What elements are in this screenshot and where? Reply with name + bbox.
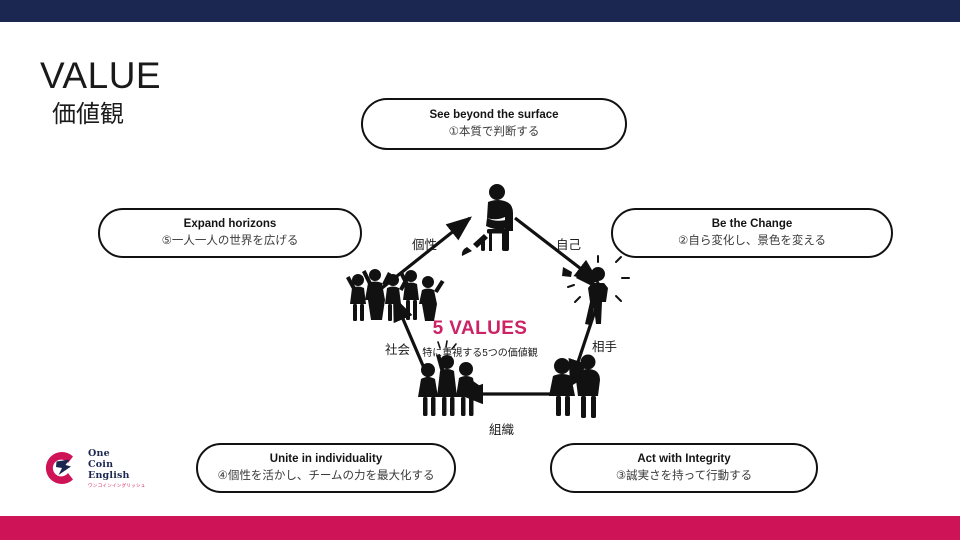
five-values-cycle-diagram: [330, 170, 650, 440]
company-logo: One Coin English ワンコインイングリッシュ: [42, 446, 172, 490]
value-pill-2: Be the Change ②自ら変化し、景色を変える: [611, 208, 893, 258]
value-pill-1-ja: ①本質で判断する: [449, 124, 540, 140]
edge-label-kosei: 個性: [412, 234, 437, 253]
value-pill-4-ja: ④個性を活かし、チームの力を最大化する: [218, 468, 435, 484]
value-pill-5-en: Expand horizons: [184, 217, 277, 232]
center-title: 5 VALUES: [400, 318, 560, 340]
slide-canvas: VALUE 価値観: [0, 0, 960, 540]
one-coin-english-logo-icon: [42, 448, 82, 488]
value-pill-4-en: Unite in individuality: [270, 452, 382, 467]
value-pill-1: See beyond the surface ①本質で判断する: [361, 98, 627, 150]
value-pill-5: Expand horizons ⑤一人一人の世界を広げる: [98, 208, 362, 258]
value-pill-2-ja: ②自ら変化し、景色を変える: [678, 233, 826, 249]
edge-label-aite: 相手: [592, 336, 617, 355]
value-pill-2-en: Be the Change: [712, 217, 793, 232]
page-title: VALUE 価値観: [40, 56, 161, 130]
page-title-en: VALUE: [40, 56, 161, 96]
shining-person-icon: [562, 256, 629, 325]
center-subtitle: 特に重視する5つの価値観: [390, 344, 570, 359]
value-pill-3: Act with Integrity ③誠実さを持って行動する: [550, 443, 818, 493]
value-pill-3-en: Act with Integrity: [637, 452, 730, 467]
value-pill-3-ja: ③誠実さを持って行動する: [616, 468, 752, 484]
edge-label-jiko: 自己: [556, 234, 581, 253]
edge-label-shakai: 社会: [385, 339, 410, 358]
logo-line-2: Coin: [88, 459, 146, 470]
crowd-icon: [346, 269, 445, 321]
value-pill-1-en: See beyond the surface: [429, 108, 558, 123]
bottom-accent-bar: [0, 516, 960, 540]
value-pill-5-ja: ⑤一人一人の世界を広げる: [162, 233, 299, 249]
edge-label-soshiki: 組織: [489, 419, 514, 438]
logo-kana: ワンコインイングリッシュ: [88, 483, 146, 489]
logo-line-1: One: [88, 448, 146, 459]
two-people-icon: [549, 355, 600, 419]
logo-wordmark: One Coin English ワンコインイングリッシュ: [88, 448, 146, 489]
top-accent-bar: [0, 0, 960, 22]
value-pill-4: Unite in individuality ④個性を活かし、チームの力を最大化…: [196, 443, 456, 493]
page-title-ja: 価値観: [52, 100, 161, 130]
logo-line-3: English: [88, 470, 146, 481]
